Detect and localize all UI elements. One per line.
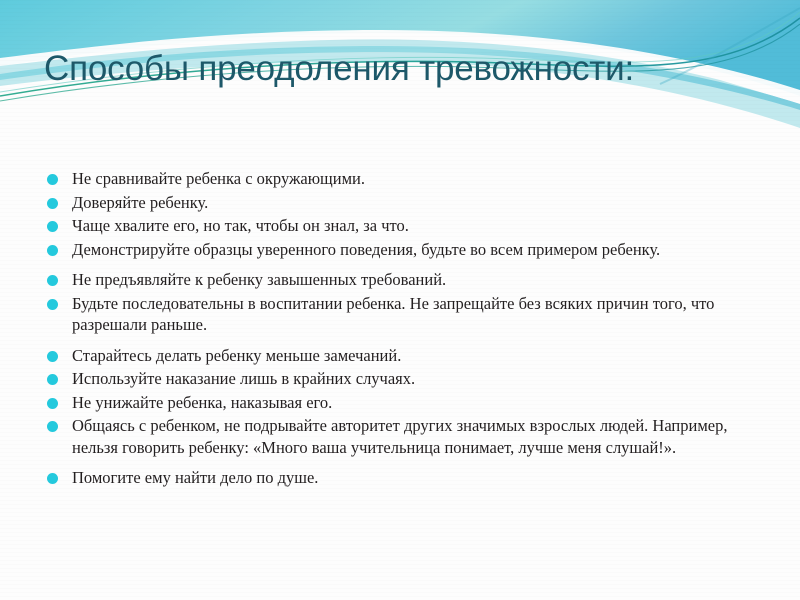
page-title: Способы преодоления тревожности: <box>44 46 684 92</box>
list-item-label: Общаясь с ребенком, не подрывайте автори… <box>72 415 760 458</box>
list-item-label: Старайтесь делать ребенку меньше замечан… <box>72 345 760 367</box>
list-item-label: Не унижайте ребенка, наказывая его. <box>72 392 760 414</box>
bullet-dot-icon <box>47 245 58 256</box>
bullet-dot-icon <box>47 198 58 209</box>
bullet-dot-icon <box>47 299 58 310</box>
bullet-dot-icon <box>47 398 58 409</box>
list-item-label: Не предъявляйте к ребенку завышенных тре… <box>72 269 760 291</box>
list-item-label: Доверяйте ребенку. <box>72 192 760 214</box>
list-item: Демонстрируйте образцы уверенного поведе… <box>44 239 760 261</box>
list-item: Общаясь с ребенком, не подрывайте автори… <box>44 415 760 458</box>
list-item: Не предъявляйте к ребенку завышенных тре… <box>44 269 760 291</box>
list-item: Не унижайте ребенка, наказывая его. <box>44 392 760 414</box>
list-item-label: Будьте последовательны в воспитании ребе… <box>72 293 760 336</box>
list-item-label: Чаще хвалите его, но так, чтобы он знал,… <box>72 215 760 237</box>
list-item-label: Используйте наказание лишь в крайних слу… <box>72 368 760 390</box>
bullet-dot-icon <box>47 174 58 185</box>
list-item: Старайтесь делать ребенку меньше замечан… <box>44 345 760 367</box>
list-item-label: Не сравнивайте ребенка с окружающими. <box>72 168 760 190</box>
bullet-dot-icon <box>47 221 58 232</box>
list-item: Помогите ему найти дело по душе. <box>44 467 760 489</box>
list-item: Доверяйте ребенку. <box>44 192 760 214</box>
list-item-label: Помогите ему найти дело по душе. <box>72 467 760 489</box>
presentation-slide: Способы преодоления тревожности: Не срав… <box>0 0 800 600</box>
list-item: Не сравнивайте ребенка с окружающими. <box>44 168 760 190</box>
bullet-dot-icon <box>47 275 58 286</box>
bullet-dot-icon <box>47 351 58 362</box>
list-item: Будьте последовательны в воспитании ребе… <box>44 293 760 336</box>
list-item: Чаще хвалите его, но так, чтобы он знал,… <box>44 215 760 237</box>
list-item: Используйте наказание лишь в крайних слу… <box>44 368 760 390</box>
list-item-label: Демонстрируйте образцы уверенного поведе… <box>72 239 760 261</box>
bullet-list: Не сравнивайте ребенка с окружающими.Дов… <box>44 168 760 491</box>
bullet-dot-icon <box>47 473 58 484</box>
bullet-dot-icon <box>47 421 58 432</box>
bullet-dot-icon <box>47 374 58 385</box>
